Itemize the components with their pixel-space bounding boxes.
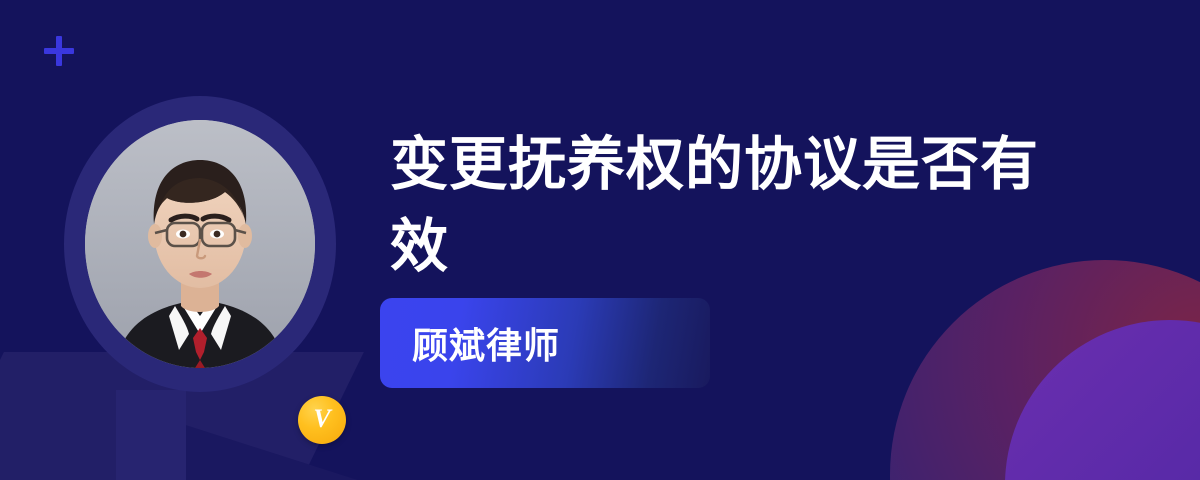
avatar: V xyxy=(64,96,336,392)
lawyer-qa-banner: V 变更抚养权的协议是否有效 顾斌律师 xyxy=(0,0,1200,480)
page-title: 变更抚养权的协议是否有效 xyxy=(390,124,1090,288)
content-block: 变更抚养权的协议是否有效 xyxy=(390,124,1180,288)
plus-icon xyxy=(44,36,74,66)
background-circle-maroon xyxy=(890,260,1200,480)
verified-badge-glyph: V xyxy=(313,406,330,432)
background-circle-purple xyxy=(1005,320,1200,480)
background-facet-small xyxy=(116,390,186,480)
lawyer-name-button[interactable]: 顾斌律师 xyxy=(380,298,710,388)
verified-badge: V xyxy=(298,396,346,444)
avatar-photo xyxy=(85,120,315,368)
